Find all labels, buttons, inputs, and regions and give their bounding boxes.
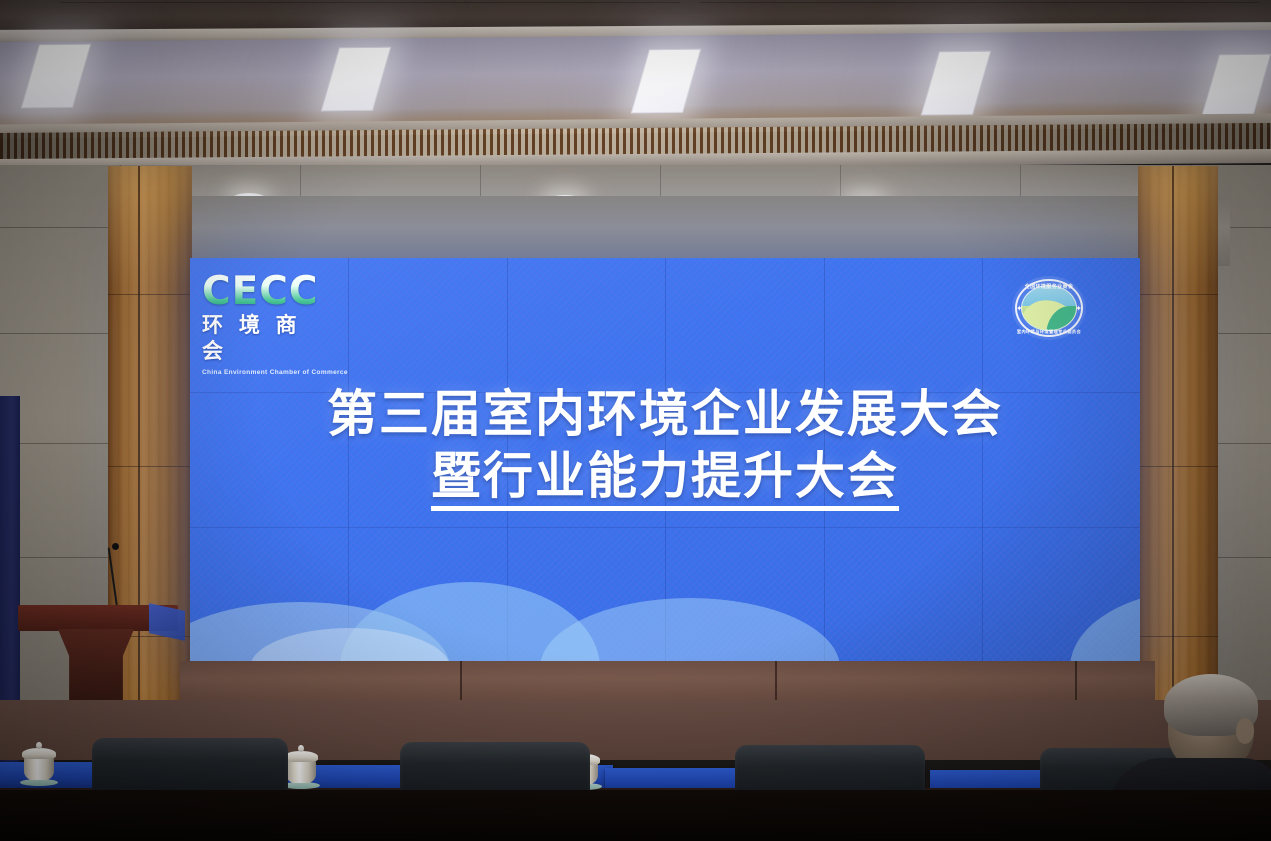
attendee-ear [1236,718,1254,744]
center-wall-behind-screen [160,196,1230,266]
microphone-head [112,543,119,550]
tea-cup [24,742,54,786]
emblem-inner-disc [1021,285,1077,331]
cecc-acronym: CECC [202,272,322,311]
wood-column-right [1138,166,1218,726]
cecc-english-name: China Environment Chamber of Commerce [202,369,322,376]
podium-side-glow [149,603,185,641]
association-emblem: 全国环境服务业商会 室内环境与环境管理专业委员会 ✦ ✦ [1012,276,1086,340]
tea-cup [286,745,316,789]
foreground-shadow [0,790,1271,841]
emblem-star-left: ✦ [1016,304,1023,313]
emblem-top-text: 全国环境服务业商会 [1012,283,1086,290]
emblem-bottom-text: 室内环境与环境管理专业委员会 [1012,329,1086,335]
screen-title-line-1: 第三届室内环境企业发展大会 [190,386,1140,442]
emblem-star-right: ✦ [1075,304,1082,313]
led-video-wall: 第三届室内环境企业发展大会 暨行业能力提升大会 [190,258,1140,662]
conference-hall-scene: 第三届室内环境企业发展大会 暨行业能力提升大会 CECC 环 境 商 会 Chi… [0,0,1271,841]
cecc-chinese-name: 环 境 商 会 [202,313,322,366]
screen-title-line-2: 暨行业能力提升大会 [431,448,899,511]
cecc-logo: CECC 环 境 商 会 China Environment Chamber o… [202,272,322,376]
screen-title-block: 第三届室内环境企业发展大会 暨行业能力提升大会 [190,386,1140,511]
